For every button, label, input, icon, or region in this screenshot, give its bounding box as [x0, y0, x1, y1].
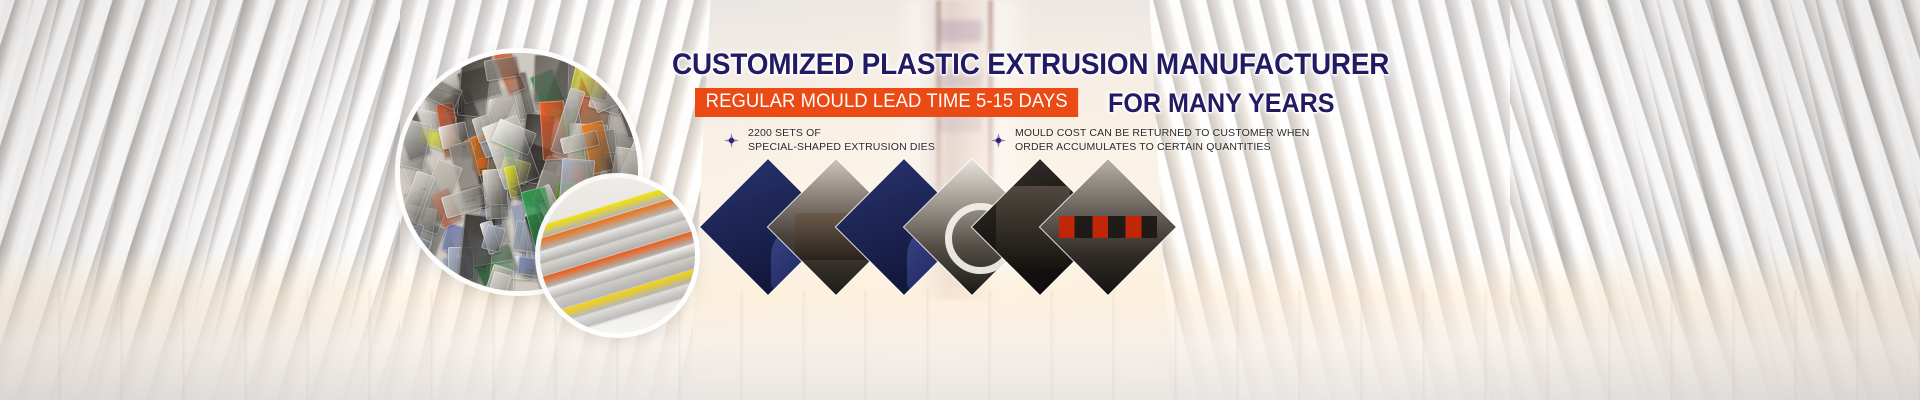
list-item-line1: 2200 SETS OF [748, 127, 821, 139]
list-item-line2: SPECIAL-SHAPED EXTRUSION DIES [748, 140, 935, 154]
promotional-banner: CUSTOMIZED PLASTIC EXTRUSION MANUFACTURE… [0, 0, 1920, 400]
list-item: MOULD COST CAN BE RETURNED TO CUSTOMER W… [991, 126, 1309, 154]
status-badge: REGULAR MOULD LEAD TIME 5-15 DAYS [695, 88, 1078, 117]
list-item-line2: ORDER ACCUMULATES TO CERTAIN QUANTITIES [1015, 140, 1309, 154]
page-title: CUSTOMIZED PLASTIC EXTRUSION MANUFACTURE… [672, 50, 1156, 80]
list-item-text: MOULD COST CAN BE RETURNED TO CUSTOMER W… [1015, 126, 1309, 154]
feature-list: 2200 SETS OF SPECIAL-SHAPED EXTRUSION DI… [724, 126, 1309, 154]
list-item: 2200 SETS OF SPECIAL-SHAPED EXTRUSION DI… [724, 126, 935, 154]
tagline: FOR MANY YEARS [1108, 89, 1334, 117]
colored-plastic-strips-photo [540, 178, 695, 333]
diamond-photo-strip [718, 160, 1168, 295]
list-item-text: 2200 SETS OF SPECIAL-SHAPED EXTRUSION DI… [748, 126, 935, 154]
list-item-line1: MOULD COST CAN BE RETURNED TO CUSTOMER W… [1015, 127, 1309, 139]
diamond-bullet-icon [724, 133, 739, 148]
diamond-bullet-icon [991, 133, 1006, 148]
lead-time-row: REGULAR MOULD LEAD TIME 5-15 DAYS FOR MA… [695, 88, 1352, 117]
